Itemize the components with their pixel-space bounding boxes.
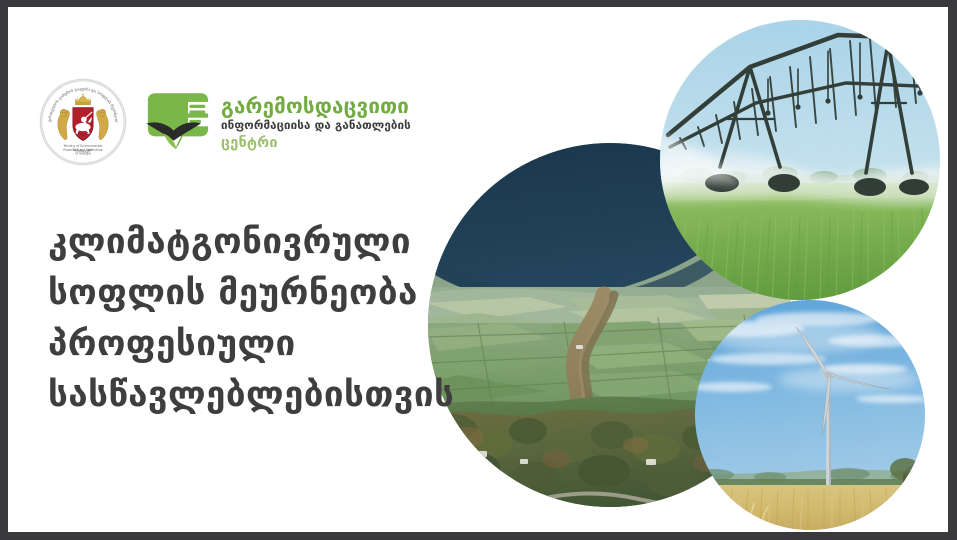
title-line-1: კლიმატგონივრული	[48, 217, 468, 268]
wind-turbine-photo	[692, 297, 932, 532]
ministry-emblem: საქართველოს გარემოს დაცვისა და სოფლის მე…	[40, 79, 126, 165]
title-line-2: სოფლის მეურნეობა	[48, 268, 468, 319]
page-title: კლიმატგონივრული სოფლის მეურნეობა პროფესი…	[48, 217, 468, 421]
eiec-logo-line2: ინფორმაციისა და განათლების	[221, 120, 411, 132]
eiec-logo-text: გარემოსდაცვითი ინფორმაციისა და განათლები…	[221, 94, 411, 151]
rural-landscape-photo	[426, 141, 796, 515]
center-pivot-irrigation-photo	[656, 15, 946, 307]
title-line-4: სასწავლებლებისთვის	[48, 370, 468, 421]
eiec-logo-line1: გარემოსდაცვითი	[221, 96, 411, 117]
open-book-leaf-logo-mark	[142, 89, 214, 155]
logo-bar: საქართველოს გარემოს დაცვისა და სოფლის მე…	[40, 79, 411, 165]
svg-text:of Georgia: of Georgia	[75, 152, 91, 156]
poster-canvas: საქართველოს გარემოს დაცვისა და სოფლის მე…	[8, 7, 948, 532]
wind-turbine-icon	[796, 327, 890, 485]
title-line-3: პროფესიული	[48, 319, 468, 370]
eiec-logo: გარემოსდაცვითი ინფორმაციისა და განათლები…	[142, 89, 411, 155]
poster-frame: საქართველოს გარემოს დაცვისა და სოფლის მე…	[0, 0, 957, 540]
eiec-logo-line3: ცენტრი	[221, 136, 411, 151]
